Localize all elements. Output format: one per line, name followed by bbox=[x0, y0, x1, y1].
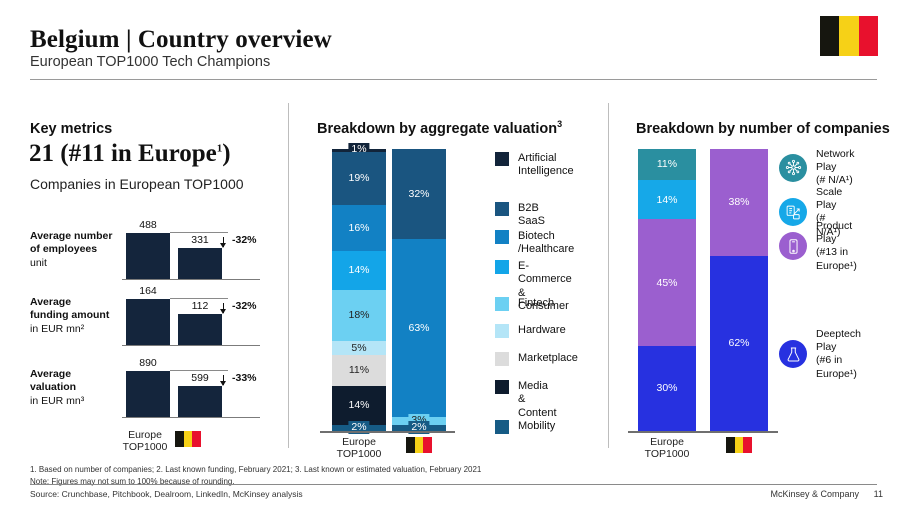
metric-delta-arrow bbox=[223, 303, 224, 313]
axis-label-europe: EuropeTOP1000 bbox=[117, 429, 173, 454]
stack-segment-label: 14% bbox=[656, 195, 677, 206]
axis-label-europe: EuropeTOP1000 bbox=[326, 436, 392, 461]
legend-swatch bbox=[495, 420, 509, 434]
metric-chart: Averagevaluationin EUR mn³890599-33% bbox=[30, 360, 280, 430]
stack-segment: 5% bbox=[332, 341, 386, 355]
headline-close: ) bbox=[222, 140, 230, 167]
metric-baseline bbox=[122, 279, 260, 281]
metric-label-line2: valuation bbox=[30, 381, 122, 394]
axis-label-europe: EuropeTOP1000 bbox=[632, 436, 702, 461]
legend-label: Deeptech Play(#6 in Europe¹) bbox=[816, 328, 861, 381]
metric-connector bbox=[170, 298, 228, 299]
stack-segment: 16% bbox=[332, 205, 386, 250]
metric-unit: in EUR mn³ bbox=[30, 395, 122, 408]
metric-label: Averagevaluationin EUR mn³ bbox=[30, 368, 122, 408]
metric-unit: in EUR mn² bbox=[30, 323, 122, 336]
metric-label-line1: Average bbox=[30, 296, 122, 309]
aggregate-valuation-title-text: Breakdown by aggregate valuation bbox=[317, 121, 557, 137]
stack-segment-label: 18% bbox=[348, 310, 369, 321]
network-icon bbox=[779, 154, 807, 182]
stack-segment-label: 19% bbox=[348, 173, 369, 184]
chart-baseline bbox=[628, 431, 778, 433]
metric-bar-belgium bbox=[178, 386, 222, 417]
page-subtitle: European TOP1000 Tech Champions bbox=[30, 54, 877, 71]
belgium-flag-icon bbox=[820, 16, 878, 56]
key-metrics-title: Key metrics bbox=[30, 121, 112, 137]
metric-bar-europe bbox=[126, 233, 170, 279]
stacked-bar: 11%14%45%30% bbox=[638, 149, 696, 431]
metric-value-belgium: 599 bbox=[177, 372, 223, 384]
stack-segment-label: 14% bbox=[348, 400, 369, 411]
key-metrics-headline: 21 (#11 in Europe1) bbox=[29, 140, 231, 168]
stack-segment: 32% bbox=[392, 149, 446, 239]
source-line: Source: Crunchbase, Pitchbook, Dealroom,… bbox=[30, 489, 303, 499]
legend-label: Fintech bbox=[518, 297, 554, 310]
axis-label-europe-l2: TOP1000 bbox=[117, 441, 173, 453]
axis-label-europe-l1: Europe bbox=[632, 436, 702, 448]
legend-swatch bbox=[495, 352, 509, 366]
stack-segment: 30% bbox=[638, 346, 696, 431]
metric-bar-europe bbox=[126, 371, 170, 417]
stack-segment: 45% bbox=[638, 219, 696, 346]
legend-label: Product Play(#13 in Europe¹) bbox=[816, 220, 857, 273]
legend-item[interactable]: Marketplace bbox=[495, 352, 578, 366]
footnote-line-1: 1. Based on number of companies; 2. Last… bbox=[30, 464, 670, 476]
legend-swatch bbox=[495, 380, 509, 394]
stack-segment-label: 30% bbox=[656, 383, 677, 394]
metric-value-europe: 164 bbox=[125, 285, 171, 297]
key-metrics-subtitle: Companies in European TOP1000 bbox=[30, 176, 244, 192]
metric-label: Average numberof employeesunit bbox=[30, 230, 122, 270]
metric-bar-belgium bbox=[178, 248, 222, 279]
stack-segment-label: 32% bbox=[408, 189, 429, 200]
legend-item[interactable]: Mobility bbox=[495, 420, 555, 434]
brand-label: McKinsey & Company bbox=[770, 489, 859, 499]
stack-segment: 18% bbox=[332, 290, 386, 341]
legend-swatch bbox=[495, 202, 509, 216]
legend-item[interactable]: ArtificialIntelligence bbox=[495, 152, 574, 179]
metric-label-line2: funding amount bbox=[30, 309, 122, 322]
stack-segment: 11% bbox=[638, 149, 696, 180]
stack-segment-label: 38% bbox=[728, 197, 749, 208]
companies-breakdown-title: Breakdown by number of companies bbox=[636, 121, 890, 137]
product-icon bbox=[779, 232, 807, 260]
belgium-flag-icon-axis bbox=[726, 437, 752, 453]
metric-connector bbox=[170, 370, 228, 371]
stack-segment-label: 11% bbox=[657, 159, 677, 170]
metric-label-line1: Average bbox=[30, 368, 122, 381]
metric-delta-arrow bbox=[223, 237, 224, 247]
stack-segment: 14% bbox=[638, 180, 696, 219]
stack-segment: 62% bbox=[710, 256, 768, 431]
legend-item[interactable]: Deeptech Play(#6 in Europe¹) bbox=[779, 328, 861, 381]
stack-segment: 19% bbox=[332, 152, 386, 206]
metric-value-belgium: 331 bbox=[177, 234, 223, 246]
metric-value-europe: 890 bbox=[125, 357, 171, 369]
metric-value-europe: 488 bbox=[125, 219, 171, 231]
axis-label-europe-l1: Europe bbox=[326, 436, 392, 448]
legend-label: Marketplace bbox=[518, 352, 578, 365]
metric-unit: unit bbox=[30, 257, 122, 270]
headline-text: 21 (#11 in Europe bbox=[29, 140, 217, 167]
page-number: 11 bbox=[874, 489, 883, 499]
stack-segment-label: 62% bbox=[728, 338, 749, 349]
header-divider bbox=[30, 79, 877, 80]
metric-delta-arrow bbox=[223, 375, 224, 385]
axis-label-europe-l1: Europe bbox=[117, 429, 173, 441]
legend-swatch bbox=[495, 324, 509, 338]
stack-segment-label: 14% bbox=[348, 265, 369, 276]
legend-swatch bbox=[495, 230, 509, 244]
metric-label-line2: of employees bbox=[30, 243, 122, 256]
metric-chart: Average numberof employeesunit488331-32% bbox=[30, 222, 280, 292]
flask-icon bbox=[779, 340, 807, 368]
metric-label: Averagefunding amountin EUR mn² bbox=[30, 296, 122, 336]
panel-divider-2 bbox=[608, 103, 609, 448]
metric-plot: 488331-32% bbox=[122, 222, 282, 292]
stack-segment-label: 63% bbox=[408, 323, 429, 334]
axis-label-europe-l2: TOP1000 bbox=[632, 448, 702, 460]
stack-segment-label: 5% bbox=[351, 343, 366, 354]
legend-swatch bbox=[495, 260, 509, 274]
metric-delta: -32% bbox=[232, 300, 257, 312]
metric-chart: Averagefunding amountin EUR mn²164112-32… bbox=[30, 288, 280, 358]
metric-value-belgium: 112 bbox=[177, 300, 223, 312]
slide-root: Belgium | Country overview European TOP1… bbox=[0, 0, 907, 512]
legend-label: Media &Content bbox=[518, 380, 557, 420]
footnote-line-2: Note: Figures may not sum to 100% becaus… bbox=[30, 476, 670, 488]
legend-item[interactable]: B2B SaaS bbox=[495, 202, 545, 229]
metric-plot: 164112-32% bbox=[122, 288, 282, 358]
axis-label-europe-l2: TOP1000 bbox=[326, 448, 392, 460]
stack-segment-label: 16% bbox=[348, 223, 369, 234]
metric-delta: -33% bbox=[232, 372, 257, 384]
legend-item[interactable]: Biotech/Healthcare bbox=[495, 230, 574, 257]
legend-label: Network Play(# N/A¹) bbox=[816, 148, 855, 188]
metric-label-line1: Average number bbox=[30, 230, 122, 243]
legend-label: ArtificialIntelligence bbox=[518, 152, 574, 179]
aggregate-valuation-title: Breakdown by aggregate valuation3 bbox=[317, 119, 562, 137]
page-title: Belgium | Country overview bbox=[30, 26, 877, 53]
metric-delta: -32% bbox=[232, 234, 257, 246]
stack-segment: 14% bbox=[332, 386, 386, 425]
chart-baseline bbox=[320, 431, 455, 433]
metric-plot: 890599-33% bbox=[122, 360, 282, 430]
legend-item[interactable]: Hardware bbox=[495, 324, 566, 338]
belgium-flag-icon-left bbox=[175, 431, 201, 447]
legend-label: Biotech/Healthcare bbox=[518, 230, 574, 257]
legend-swatch bbox=[495, 297, 509, 311]
metric-baseline bbox=[122, 345, 260, 347]
slide-header: Belgium | Country overview European TOP1… bbox=[30, 26, 877, 71]
legend-swatch bbox=[495, 152, 509, 166]
legend-item[interactable]: Media &Content bbox=[495, 380, 557, 420]
metric-bar-europe bbox=[126, 299, 170, 345]
aggregate-valuation-footnote-marker: 3 bbox=[557, 119, 562, 129]
legend-label: Mobility bbox=[518, 420, 555, 433]
stacked-bar: 38%62% bbox=[710, 149, 768, 431]
stacked-bar: 1%19%16%14%18%5%11%14%2% bbox=[332, 149, 386, 431]
metric-baseline bbox=[122, 417, 260, 419]
stack-segment: 11% bbox=[332, 355, 386, 386]
panel-divider-1 bbox=[288, 103, 289, 448]
metric-bar-belgium bbox=[178, 314, 222, 345]
legend-item[interactable]: Fintech bbox=[495, 297, 554, 311]
legend-label: B2B SaaS bbox=[518, 202, 545, 229]
legend-item[interactable]: Product Play(#13 in Europe¹) bbox=[779, 220, 857, 273]
stack-segment-label: 11% bbox=[349, 365, 369, 376]
stack-segment: 38% bbox=[710, 149, 768, 256]
belgium-flag-icon-axis bbox=[406, 437, 432, 453]
stack-segment: 63% bbox=[392, 239, 446, 417]
footer-divider bbox=[30, 484, 877, 485]
metric-connector bbox=[170, 232, 228, 233]
legend-item[interactable]: Network Play(# N/A¹) bbox=[779, 148, 855, 188]
stacked-bar: 32%63%3%2% bbox=[392, 149, 446, 431]
legend-label: Hardware bbox=[518, 324, 566, 337]
stack-segment: 14% bbox=[332, 251, 386, 290]
stack-segment-label: 45% bbox=[656, 278, 677, 289]
